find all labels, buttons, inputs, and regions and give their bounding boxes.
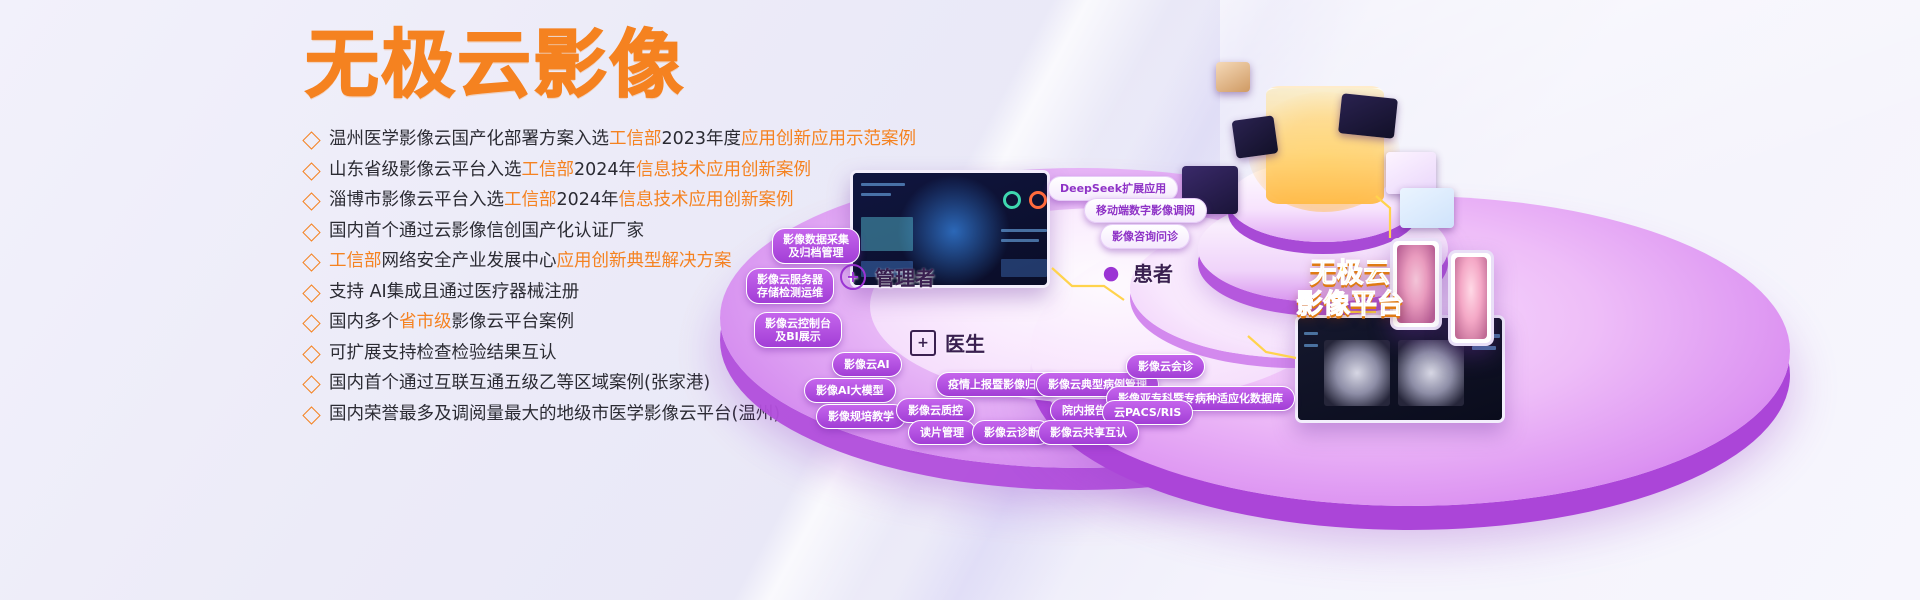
mock-bar — [861, 193, 891, 196]
achievement-highlight: 工信部 — [522, 160, 575, 180]
mock-bar — [1001, 239, 1039, 242]
pill-line: 读片管理 — [920, 426, 964, 439]
achievement-plain: 国内首个通过云影像信创国产化认证厂家 — [329, 221, 644, 241]
pill-line: 影像数据采集 — [783, 233, 849, 246]
achievement-plain: 影像云平台案例 — [452, 312, 575, 332]
achievement-text: 国内首个通过云影像信创国产化认证厂家 — [329, 220, 644, 242]
pill-admin-0[interactable]: 影像数据采集及归档管理 — [772, 228, 860, 264]
pill-line: 云PACS/RIS — [1114, 406, 1181, 419]
diamond-bullet-icon — [302, 375, 320, 393]
achievement-highlight: 工信部 — [504, 190, 557, 210]
role-admin-text: 管理者 — [875, 262, 935, 291]
imaging-tile-mri — [1338, 93, 1398, 139]
report-image — [1455, 257, 1487, 339]
diamond-bullet-icon — [302, 162, 320, 180]
pill-line: 影像云服务器 — [757, 273, 823, 286]
pill-patient-2[interactable]: 影像咨询问诊 — [1100, 224, 1190, 249]
imaging-tile-ultrasound — [1232, 115, 1279, 158]
platform-diagram: 无极云 影像平台 + 管理者 + 医生 ● 患者 影像数据采集及归档管理 影像云… — [700, 0, 1920, 600]
achievement-plain: 2024年 — [574, 160, 636, 180]
achievement-text: 工信部网络安全产业发展中心应用创新典型解决方案 — [329, 250, 732, 272]
diamond-bullet-icon — [302, 284, 320, 302]
achievement-text: 国内多个省市级影像云平台案例 — [329, 311, 574, 333]
pill-line: 影像云会诊 — [1138, 360, 1193, 373]
pill-line: 影像云诊断 — [984, 426, 1039, 439]
pill-doctor-1[interactable]: 影像AI大模型 — [804, 378, 896, 403]
role-label-doctor: + 医生 — [910, 328, 985, 357]
role-label-patient: ● 患者 — [1098, 258, 1173, 287]
mock-bar — [1001, 229, 1047, 232]
pill-line: 存储检测运维 — [757, 286, 823, 299]
mock-bar — [861, 183, 905, 186]
pill-line: 影像云共享互认 — [1050, 426, 1127, 439]
mock-bar — [1304, 344, 1318, 347]
diamond-bullet-icon — [302, 131, 320, 149]
pill-line: 疫情上报暨影像归档 — [948, 378, 1047, 391]
mock-bar — [1304, 332, 1318, 335]
achievement-plain: 网络安全产业发展中心 — [382, 251, 557, 271]
person-icon: ● — [1098, 260, 1124, 286]
diamond-bullet-icon — [302, 223, 320, 241]
achievement-plain: 2024年 — [557, 190, 619, 210]
achievement-text: 可扩展支持检查检验结果互认 — [329, 342, 557, 364]
achievement-text: 支持 AI集成且通过医疗器械注册 — [329, 281, 579, 303]
imaging-tile-scanner — [1216, 62, 1250, 92]
achievement-plain: 国内首个通过互联互通五级乙等区域案例(张家港) — [329, 373, 710, 393]
achievement-plain: 可扩展支持检查检验结果互认 — [329, 343, 557, 363]
clipboard-plus-icon: + — [910, 330, 936, 356]
brand-line-1: 无极云 — [1260, 258, 1440, 289]
role-patient-text: 患者 — [1133, 258, 1173, 287]
pill-doctor-0[interactable]: 影像云AI — [832, 352, 902, 377]
achievement-highlight: 省市级 — [399, 312, 452, 332]
pill-line: 及BI展示 — [765, 330, 831, 343]
pill-line: 影像云控制台 — [765, 317, 831, 330]
pill-doctor-2[interactable]: 影像规培教学 — [816, 404, 906, 429]
achievement-highlight: 工信部 — [609, 129, 662, 149]
mock-chart — [861, 217, 913, 251]
pill-line: 影像咨询问诊 — [1112, 230, 1178, 243]
achievement-plain: 山东省级影像云平台入选 — [329, 160, 522, 180]
diamond-bullet-icon — [302, 345, 320, 363]
plus-circle-icon: + — [840, 264, 866, 290]
ct-image — [1398, 340, 1464, 406]
pill-doctor-5[interactable]: 读片管理 — [908, 420, 976, 445]
pill-line: 影像规培教学 — [828, 410, 894, 423]
pill-line: 影像云质控 — [908, 404, 963, 417]
achievement-plain: 支持 AI集成且通过医疗器械注册 — [329, 282, 579, 302]
achievement-text: 国内首个通过互联互通五级乙等区域案例(张家港) — [329, 372, 710, 394]
mock-chart — [1001, 259, 1047, 277]
ct-image — [1324, 340, 1390, 406]
imaging-tile-report — [1400, 188, 1454, 228]
pill-line: 及归档管理 — [783, 246, 849, 259]
pill-admin-1[interactable]: 影像云服务器存储检测运维 — [746, 268, 834, 304]
role-label-admin: + 管理者 — [840, 262, 935, 291]
page-title: 无极云影像 — [305, 22, 685, 108]
pill-line: 移动端数字影像调阅 — [1096, 204, 1195, 217]
achievement-plain: 国内多个 — [329, 312, 399, 332]
pill-admin-2[interactable]: 影像云控制台及BI展示 — [754, 312, 842, 348]
mock-gauge — [1003, 191, 1021, 209]
achievement-plain: 温州医学影像云国产化部署方案入选 — [329, 129, 609, 149]
diamond-bullet-icon — [302, 406, 320, 424]
mock-gauge — [1029, 191, 1047, 209]
diamond-bullet-icon — [302, 314, 320, 332]
role-doctor-text: 医生 — [945, 328, 985, 357]
pill-patient-1[interactable]: 移动端数字影像调阅 — [1084, 198, 1207, 223]
pill-line: 影像AI大模型 — [816, 384, 884, 397]
pill-doctor-12[interactable]: 影像云共享互认 — [1038, 420, 1139, 445]
mock-bar — [1472, 346, 1496, 350]
patient-phone-report — [1448, 250, 1494, 346]
achievement-highlight: 工信部 — [329, 251, 382, 271]
diamond-bullet-icon — [302, 192, 320, 210]
pill-line: 影像云AI — [844, 358, 890, 371]
pill-line: DeepSeek扩展应用 — [1060, 182, 1166, 195]
achievement-plain: 淄博市影像云平台入选 — [329, 190, 504, 210]
brand-line-2: 影像平台 — [1260, 289, 1440, 320]
platform-brand-label: 无极云 影像平台 — [1260, 258, 1440, 320]
diamond-bullet-icon — [302, 253, 320, 271]
pill-doctor-9[interactable]: 影像云会诊 — [1126, 354, 1205, 379]
